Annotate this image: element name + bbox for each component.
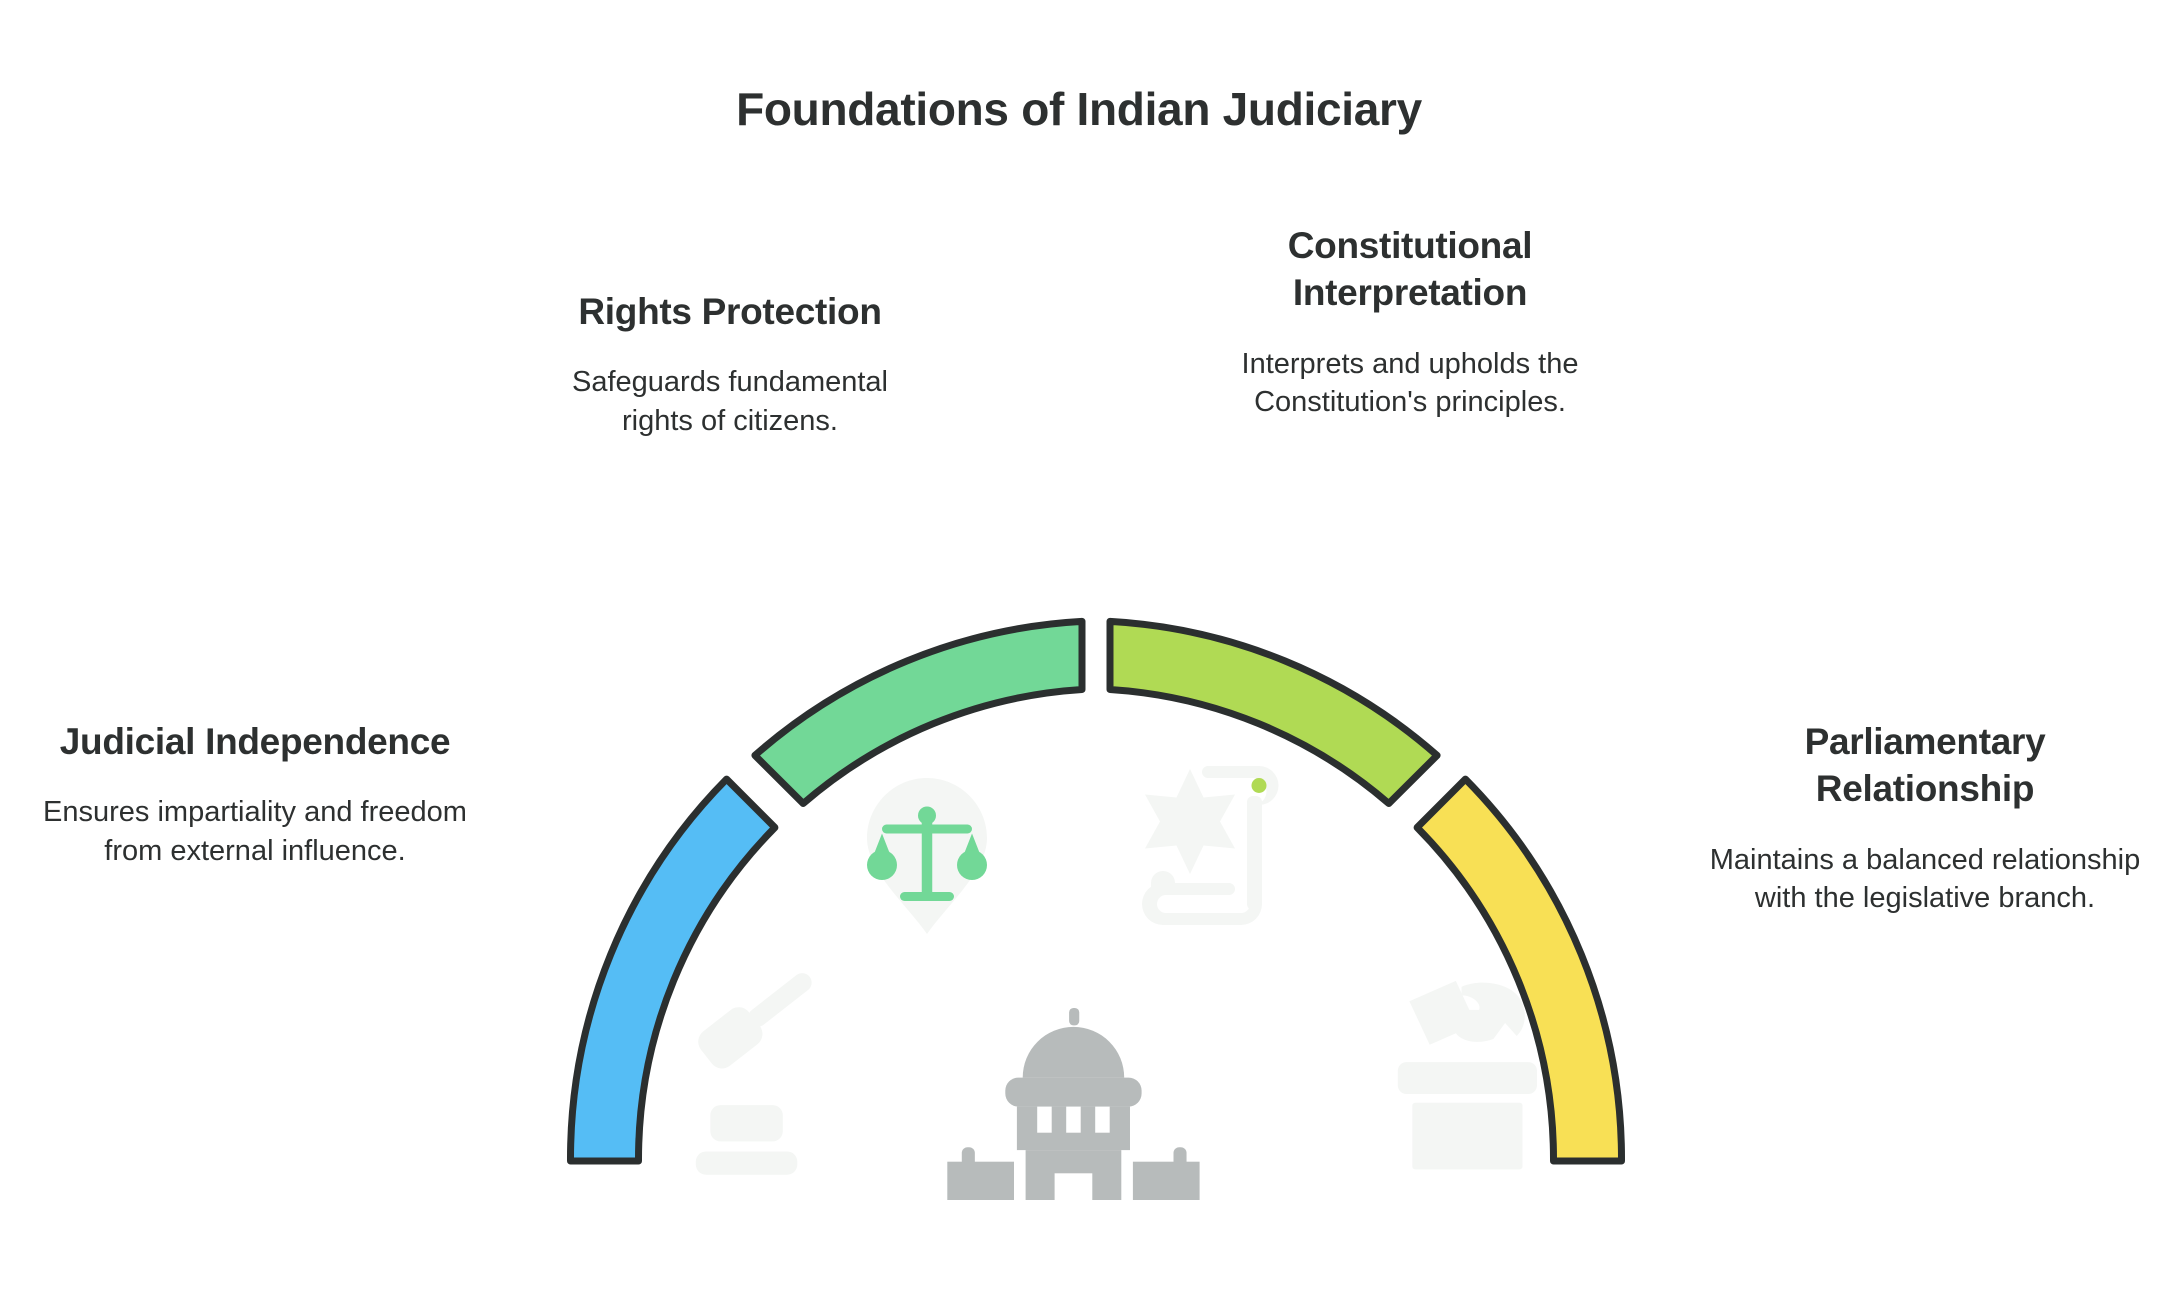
- label-block-parliamentary-relationship: Parliamentary Relationship Maintains a b…: [1700, 718, 2150, 918]
- infographic-canvas: Foundations of Indian Judiciary Rights P…: [0, 0, 2158, 1294]
- label-block-constitutional-interpretation: Constitutional Interpretation Interprets…: [1180, 222, 1640, 422]
- segment-title-judicial-independence: Judicial Independence: [20, 718, 490, 765]
- segment-description-parliamentary-relationship: Maintains a balanced relationship with t…: [1700, 841, 2150, 918]
- label-block-rights-protection: Rights Protection Safeguards fundamental…: [500, 288, 960, 440]
- constitution-scroll-icon: [1142, 766, 1279, 925]
- segment-title-rights-protection: Rights Protection: [500, 288, 960, 335]
- arc-diagram: [530, 600, 1690, 1200]
- arc-segment-constitutional-interpretation[interactable]: [1110, 621, 1437, 925]
- arc-segment-shape-blue[interactable]: [570, 779, 774, 1161]
- segment-description-constitutional-interpretation: Interprets and upholds the Constitution'…: [1190, 345, 1630, 422]
- segment-description-judicial-independence: Ensures impartiality and freedom from ex…: [20, 793, 490, 870]
- parliament-building-icon: [930, 1008, 1217, 1200]
- arc-segment-shape-green[interactable]: [755, 621, 1082, 803]
- page-title: Foundations of Indian Judiciary: [0, 82, 2158, 136]
- arc-segment-rights-protection[interactable]: [755, 621, 1082, 934]
- segment-title-constitutional-interpretation: Constitutional Interpretation: [1180, 222, 1640, 317]
- gavel-icon: [693, 959, 823, 1175]
- ballot-box-hand-icon: [1398, 981, 1537, 1170]
- scales-of-justice-pin-icon: [867, 778, 987, 934]
- arc-segment-parliamentary-relationship[interactable]: [1398, 779, 1622, 1169]
- segment-title-parliamentary-relationship: Parliamentary Relationship: [1700, 718, 2150, 813]
- segment-description-rights-protection: Safeguards fundamental rights of citizen…: [560, 363, 900, 440]
- label-block-judicial-independence: Judicial Independence Ensures impartiali…: [20, 718, 490, 870]
- arc-segment-judicial-independence[interactable]: [570, 779, 822, 1175]
